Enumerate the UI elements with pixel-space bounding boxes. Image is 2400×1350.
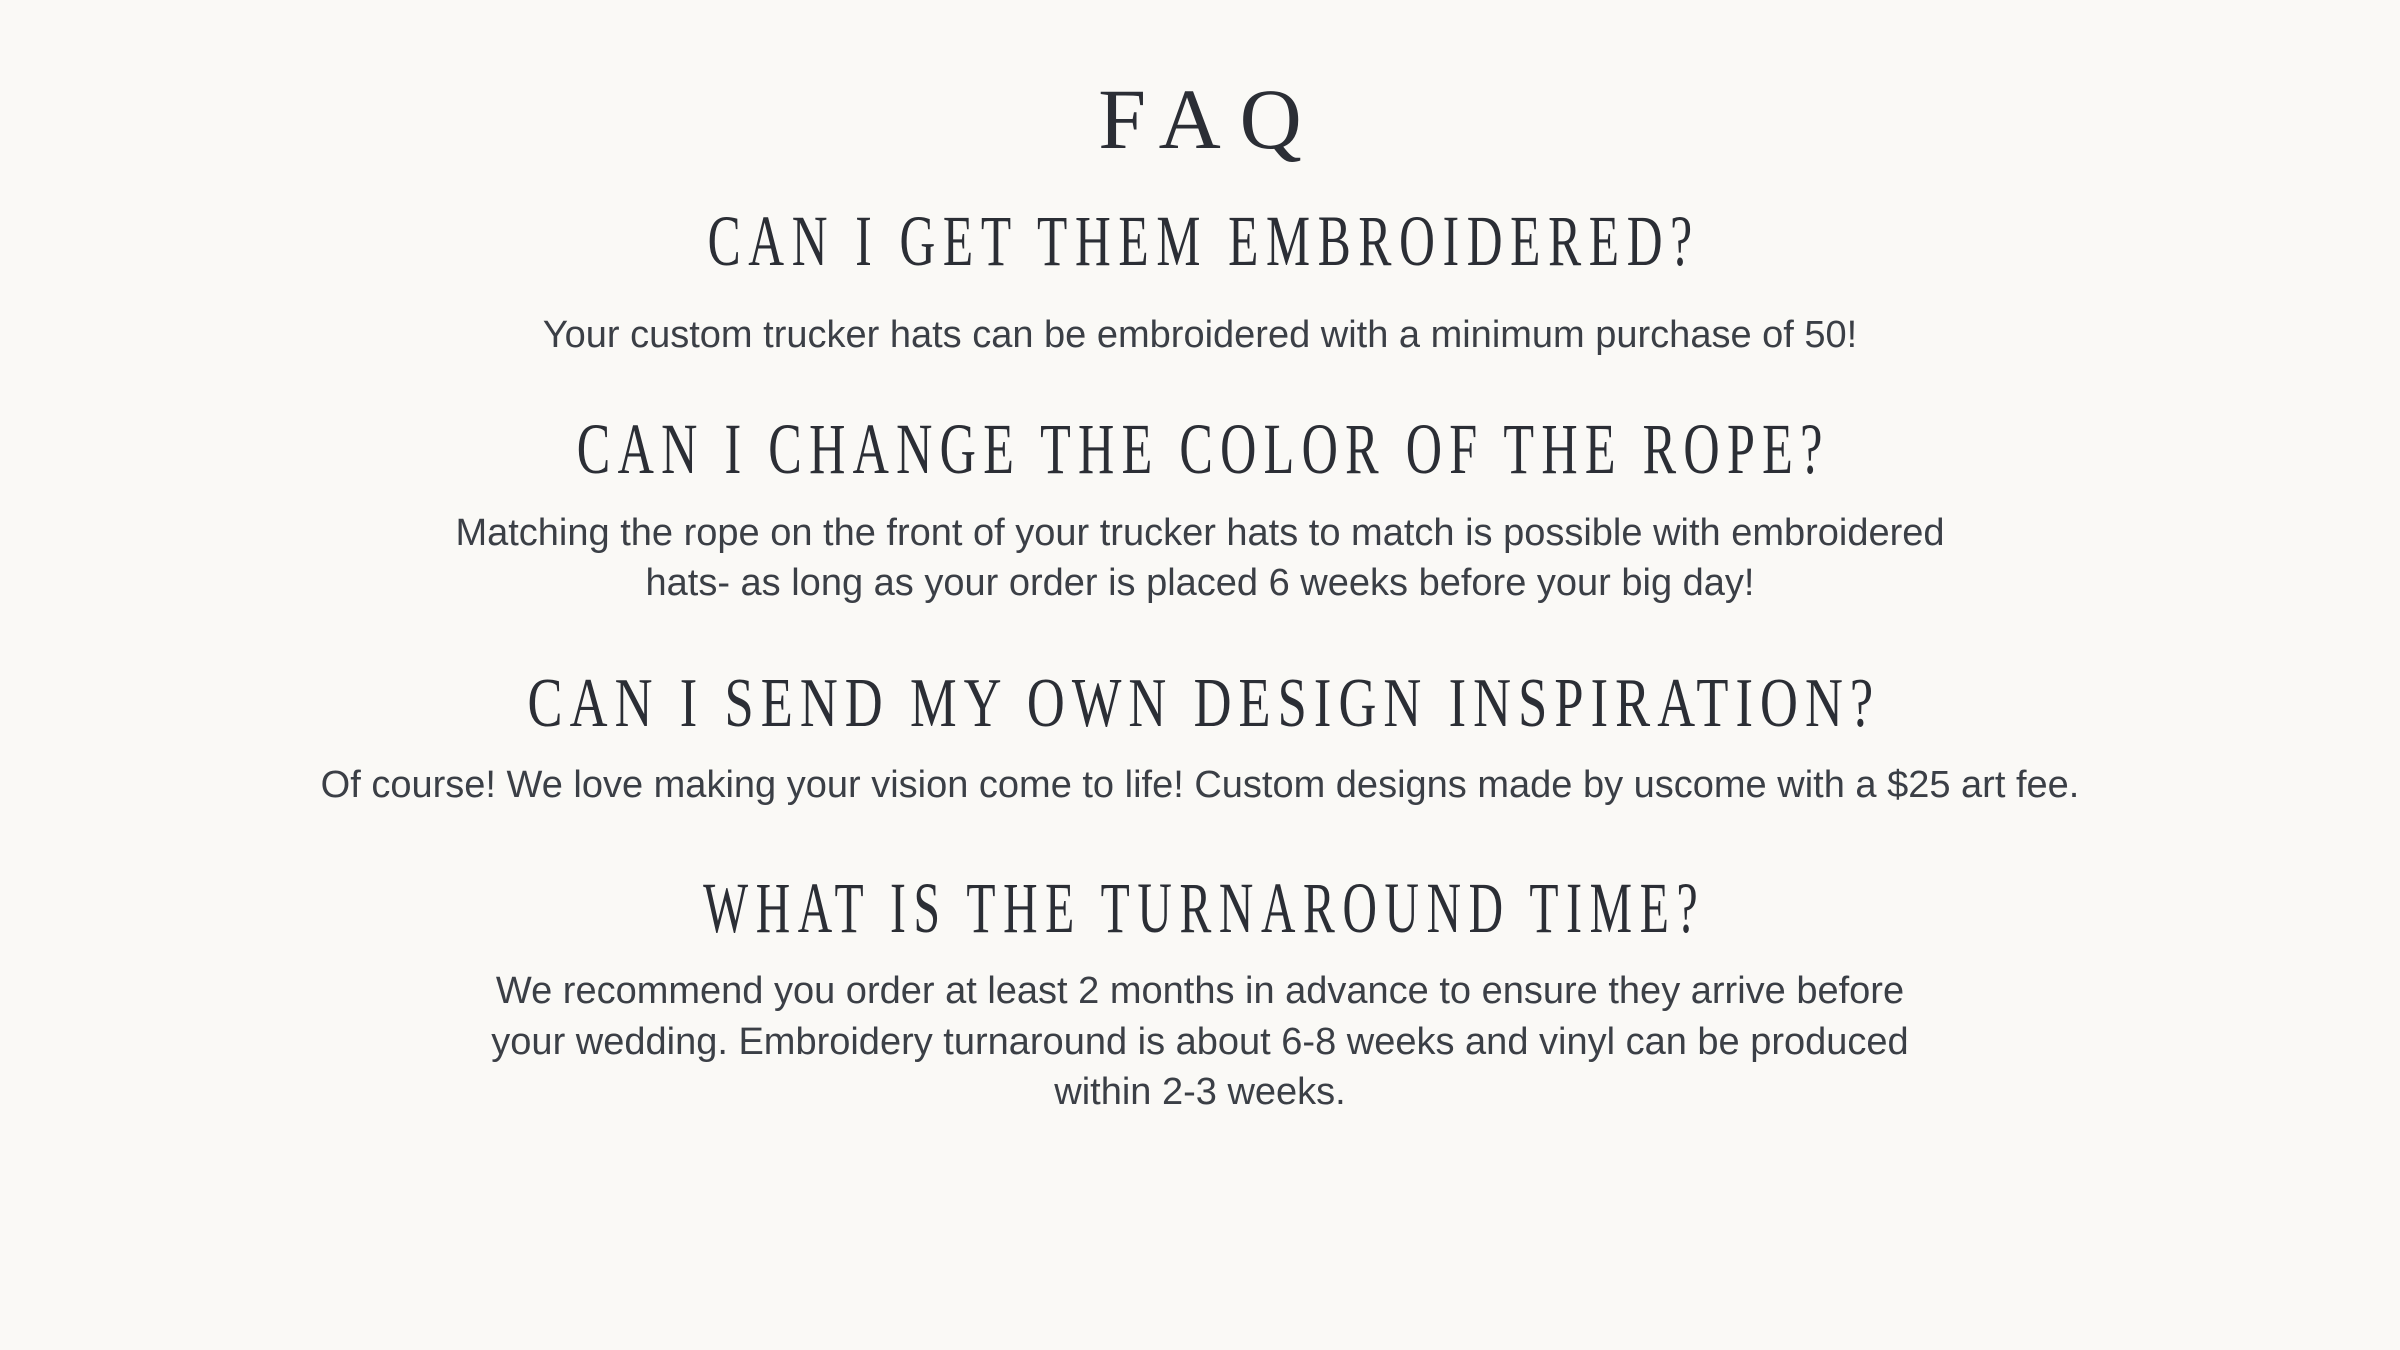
faq-item: CAN I SEND MY OWN DESIGN INSPIRATION? Of… [0,667,2400,811]
faq-page: FAQ CAN I GET THEM EMBROIDERED? Your cus… [0,0,2400,1350]
faq-question: CAN I SEND MY OWN DESIGN INSPIRATION? [520,667,1880,741]
faq-item: WHAT IS THE TURNAROUND TIME? We recommen… [0,871,2400,1118]
faq-answer: Your custom trucker hats can be embroide… [543,310,1857,361]
faq-question: CAN I GET THEM EMBROIDERED? [700,204,1700,280]
faq-answer: Matching the rope on the front of your t… [455,508,1944,609]
faq-question: WHAT IS THE TURNAROUND TIME? [695,871,1705,947]
faq-answer: We recommend you order at least 2 months… [491,966,1908,1118]
page-title: FAQ [1079,76,1320,162]
faq-question: CAN I CHANGE THE COLOR OF THE ROPE? [570,412,1830,488]
faq-item: CAN I GET THEM EMBROIDERED? Your custom … [0,204,2400,360]
faq-list: CAN I GET THEM EMBROIDERED? Your custom … [0,162,2400,1118]
faq-answer: Of course! We love making your vision co… [321,760,2080,811]
faq-item: CAN I CHANGE THE COLOR OF THE ROPE? Matc… [0,412,2400,609]
